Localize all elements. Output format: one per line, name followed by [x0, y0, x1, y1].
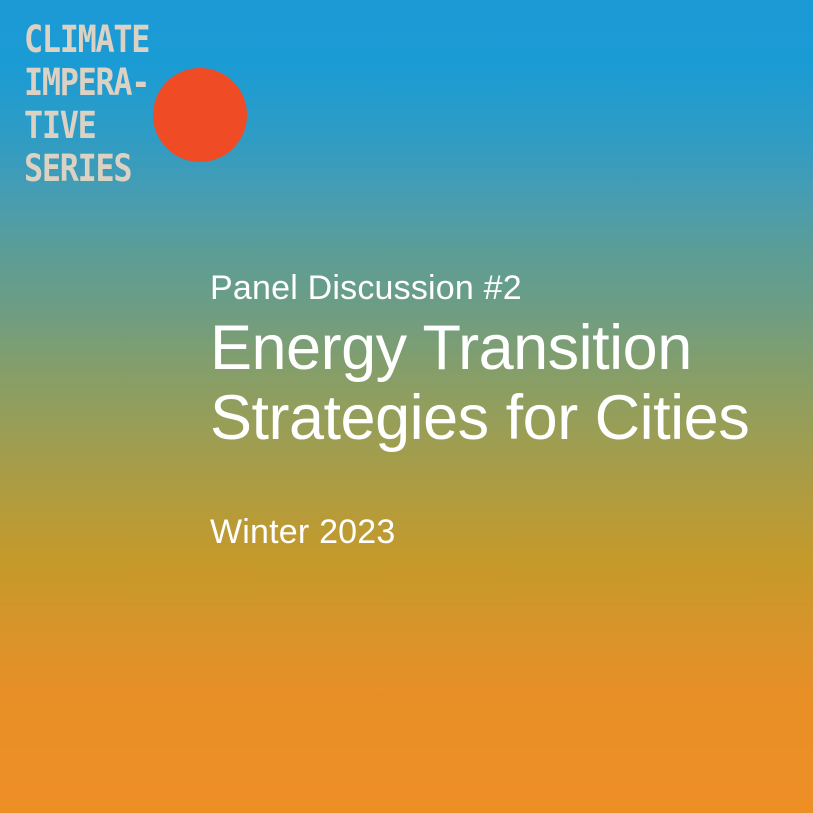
title-slide: CLIMATE IMPERA- TIVE SERIES Panel Discus…	[0, 0, 813, 813]
logo-line-tive: TIVE	[24, 107, 95, 144]
logo-line-climate: CLIMATE	[24, 21, 149, 58]
season-date-label: Winter 2023	[210, 512, 770, 553]
logo-circle-icon	[153, 68, 247, 162]
panel-eyebrow-label: Panel Discussion #2	[210, 268, 770, 308]
climate-imperative-series-logo[interactable]: CLIMATE IMPERA- TIVE SERIES	[22, 16, 252, 201]
slide-text-block: Panel Discussion #2 Energy Transition St…	[210, 268, 770, 553]
logo-line-series: SERIES	[24, 150, 131, 187]
logo-line-impera: IMPERA-	[24, 64, 149, 101]
page-title: Energy Transition Strategies for Cities	[210, 314, 750, 454]
